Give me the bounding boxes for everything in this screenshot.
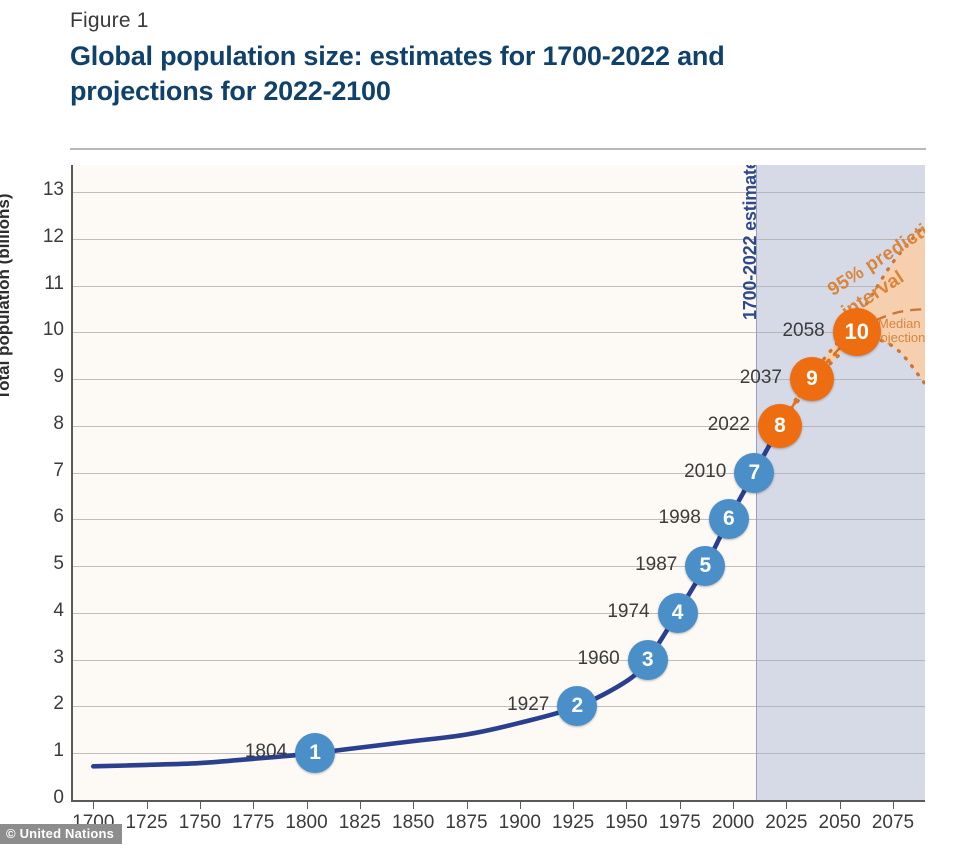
y-tick-label-2: 2: [24, 693, 64, 715]
milestone-year-label-1974: 1974: [588, 601, 650, 623]
y-tick-label-7: 7: [24, 460, 64, 482]
y-tick-label-6: 6: [24, 506, 64, 528]
milestone-year-label-1987: 1987: [615, 554, 677, 576]
plot-area: 1700-2022 estimate 95% prediction interv…: [72, 165, 925, 800]
y-tick-label-3: 3: [24, 647, 64, 669]
x-tick-mark-2000: [733, 800, 734, 809]
x-tick-mark-1950: [626, 800, 627, 809]
milestone-marker-2022[interactable]: 8: [758, 404, 802, 448]
y-tick-label-5: 5: [24, 553, 64, 575]
milestone-marker-1974[interactable]: 4: [658, 593, 698, 633]
x-tick-mark-1775: [253, 800, 254, 809]
x-tick-mark-1750: [200, 800, 201, 809]
milestone-year-label-2058: 2058: [763, 320, 825, 342]
milestone-marker-1998[interactable]: 6: [709, 499, 749, 539]
estimate-period-label: 1700-2022 estimate: [740, 165, 761, 320]
x-tick-mark-1800: [307, 800, 308, 809]
milestone-year-label-2037: 2037: [720, 367, 782, 389]
milestone-marker-2010[interactable]: 7: [734, 453, 774, 493]
y-axis-line: [71, 165, 73, 802]
milestone-year-label-2022: 2022: [688, 414, 750, 436]
milestone-year-label-1960: 1960: [558, 648, 620, 670]
x-tick-mark-1850: [413, 800, 414, 809]
x-tick-mark-1825: [360, 800, 361, 809]
x-tick-label-2075: 2075: [858, 812, 928, 834]
milestone-year-label-1804: 1804: [225, 741, 287, 763]
x-tick-mark-2050: [840, 800, 841, 809]
x-tick-mark-1875: [467, 800, 468, 809]
milestone-marker-2058[interactable]: 10: [833, 308, 881, 356]
milestone-year-label-1927: 1927: [487, 694, 549, 716]
x-tick-mark-1725: [147, 800, 148, 809]
milestone-marker-1960[interactable]: 3: [628, 640, 668, 680]
x-tick-mark-2025: [786, 800, 787, 809]
population-chart: 1700-2022 estimate 95% prediction interv…: [0, 0, 962, 850]
milestone-year-label-1998: 1998: [639, 507, 701, 529]
y-tick-label-13: 13: [24, 179, 64, 201]
x-tick-mark-1925: [573, 800, 574, 809]
y-tick-label-8: 8: [24, 413, 64, 435]
y-tick-label-4: 4: [24, 600, 64, 622]
y-tick-label-0: 0: [24, 787, 64, 809]
x-tick-mark-1975: [680, 800, 681, 809]
copyright-credit: © United Nations: [0, 824, 122, 844]
x-tick-mark-2075: [893, 800, 894, 809]
y-tick-label-11: 11: [24, 273, 64, 295]
y-axis-title: Total population (billions): [0, 194, 14, 400]
x-tick-mark-1900: [520, 800, 521, 809]
y-tick-label-10: 10: [24, 319, 64, 341]
y-tick-label-9: 9: [24, 366, 64, 388]
milestone-year-label-2010: 2010: [664, 461, 726, 483]
y-tick-label-1: 1: [24, 740, 64, 762]
x-tick-mark-1700: [93, 800, 94, 809]
milestone-marker-2037[interactable]: 9: [790, 357, 834, 401]
y-tick-label-12: 12: [24, 226, 64, 248]
